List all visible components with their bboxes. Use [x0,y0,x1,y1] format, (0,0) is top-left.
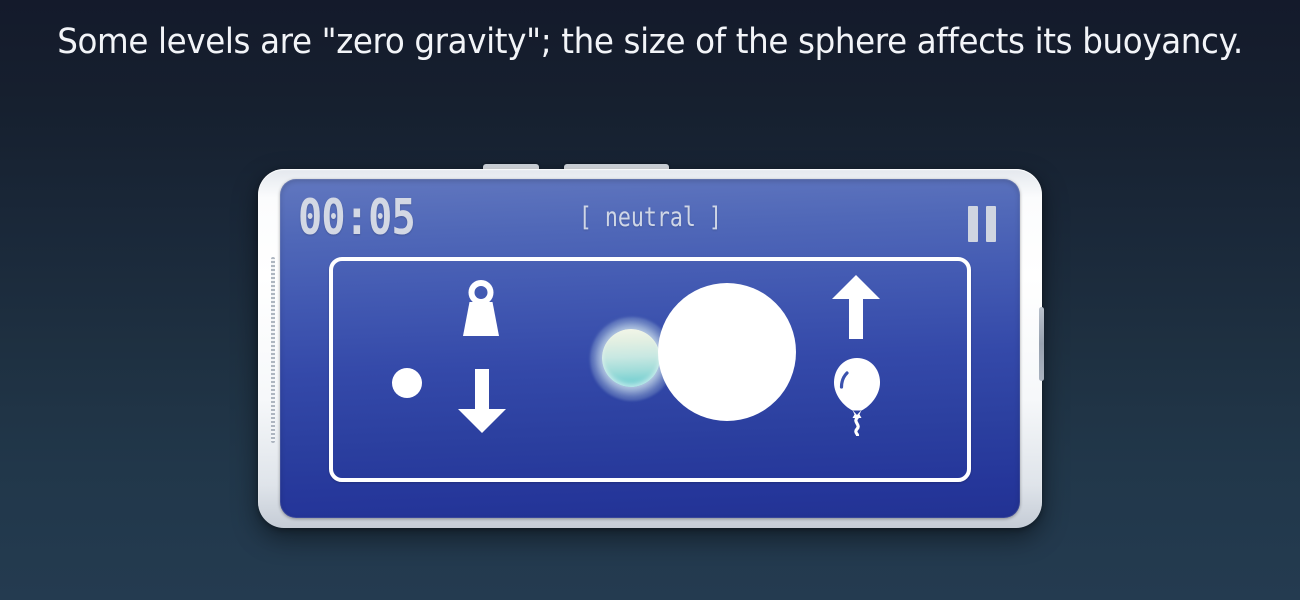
buoyancy-state-text: [ neutral ] [578,204,721,231]
phone-side-button[interactable] [1039,307,1044,381]
pause-bar-right [986,206,996,242]
buoyant-orb[interactable] [602,329,660,387]
weight-icon [446,278,516,348]
page-caption: Some levels are "zero gravity"; the size… [46,22,1255,62]
phone-chassis: 00:05 [ neutral ] [258,169,1042,528]
buoyancy-state-label: [ neutral ] [280,204,1020,231]
pause-button[interactable] [966,206,998,242]
game-playfield[interactable] [329,257,971,482]
game-hud: 00:05 [ neutral ] [280,179,1020,251]
large-sphere[interactable] [658,283,796,421]
phone-screen[interactable]: 00:05 [ neutral ] [280,179,1020,518]
phone-speaker-grille [271,257,275,443]
balloon-icon [830,356,884,436]
phone-device: 00:05 [ neutral ] [258,160,1042,528]
pause-bar-left [968,206,978,242]
down-arrow-icon [453,369,511,433]
small-sphere-icon [392,368,422,398]
up-arrow-icon [827,275,885,339]
